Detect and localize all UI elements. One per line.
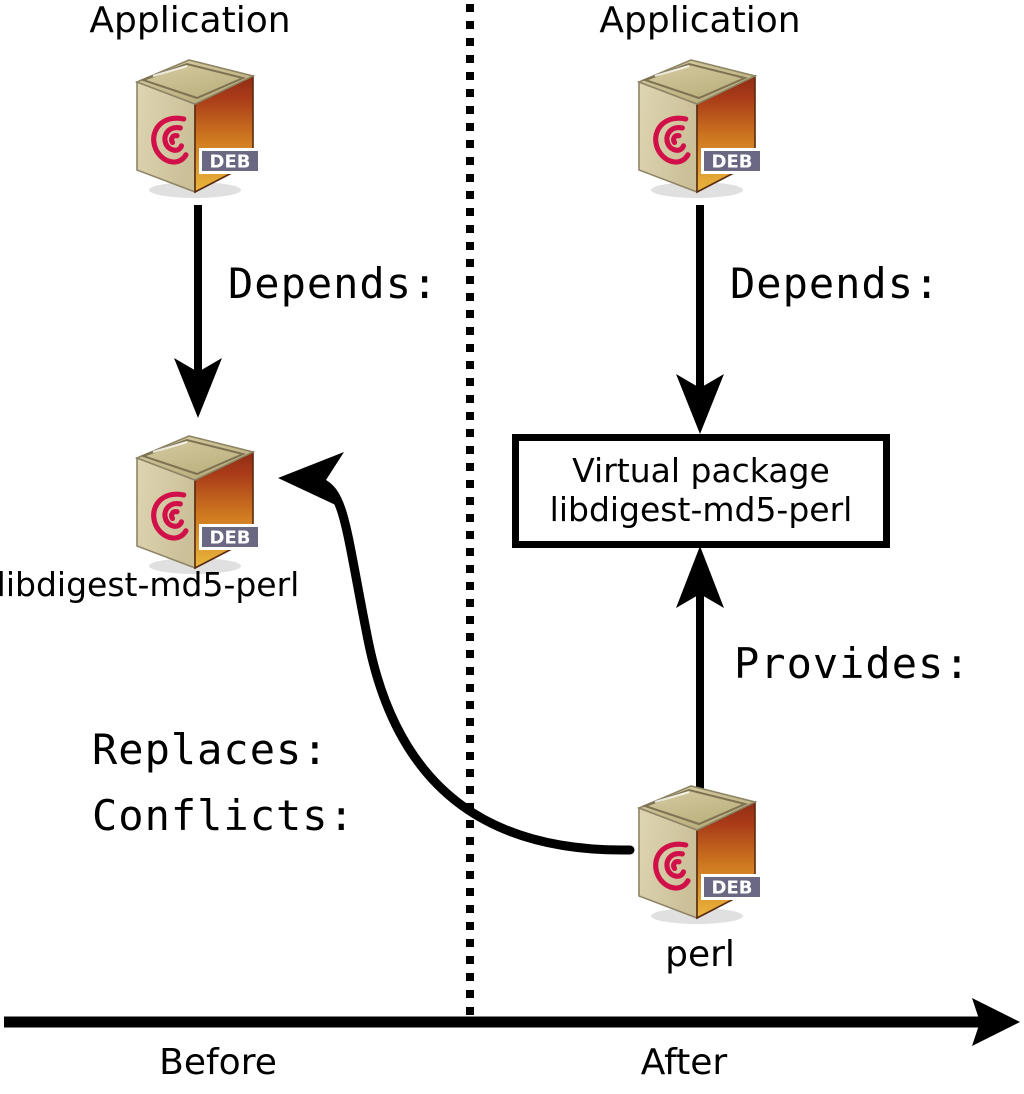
svg-text:DEB: DEB: [712, 878, 753, 899]
before-after-divider: [466, 4, 474, 1024]
virtual-package-line2: libdigest-md5-perl: [550, 491, 853, 530]
arrow-depends-before: [174, 205, 222, 418]
timeline-before-label: Before: [159, 1044, 277, 1082]
arrow-depends-after: [676, 205, 724, 434]
deb-badge: DEB: [199, 524, 261, 550]
debian-package-icon: DEB: [625, 52, 775, 202]
svg-text:DEB: DEB: [210, 152, 251, 173]
debian-package-icon: DEB: [123, 428, 273, 578]
libdigest-md5-perl-label: libdigest-md5-perl: [0, 568, 299, 603]
depends-label-after: Depends:: [730, 262, 940, 306]
deb-badge: DEB: [199, 148, 261, 174]
diagram-canvas: Application DEB: [0, 0, 1024, 1094]
time-axis-arrow: [4, 998, 1020, 1046]
timeline-after-label: After: [641, 1044, 727, 1082]
deb-badge: DEB: [701, 148, 763, 174]
before-application-label: Application: [89, 2, 290, 40]
virtual-package-box: Virtual package libdigest-md5-perl: [512, 434, 890, 548]
arrow-provides: [676, 546, 724, 790]
conflicts-label: Conflicts:: [92, 794, 355, 838]
debian-package-icon: DEB: [625, 778, 775, 928]
svg-text:DEB: DEB: [712, 152, 753, 173]
virtual-package-line1: Virtual package: [572, 452, 830, 491]
perl-label: perl: [665, 936, 735, 974]
svg-text:DEB: DEB: [210, 528, 251, 549]
after-application-label: Application: [599, 2, 800, 40]
deb-badge: DEB: [701, 874, 763, 900]
depends-label-before: Depends:: [228, 262, 438, 306]
replaces-label: Replaces:: [92, 728, 329, 772]
debian-package-icon: DEB: [123, 52, 273, 202]
provides-label: Provides:: [734, 642, 971, 686]
